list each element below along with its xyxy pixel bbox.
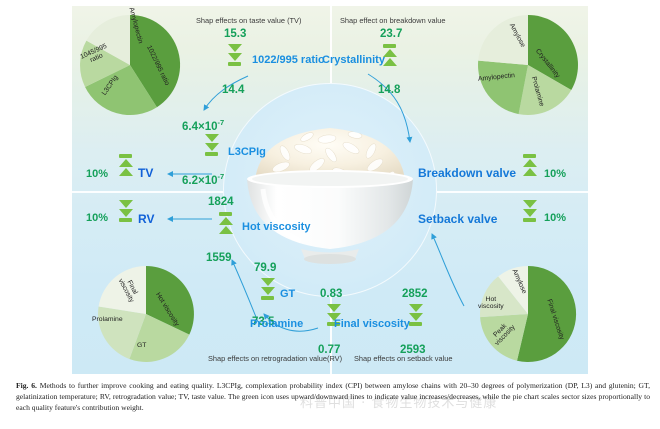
- pie-taste-value: 1022/995 ratio L3CPIg 1045/995ratio Amyl…: [74, 10, 186, 120]
- value-low-l3cpig: 6.2×10-7: [182, 172, 224, 187]
- value-low-ratio-1022-995: 14.4: [222, 84, 244, 96]
- outcome-amount-rv: 10%: [86, 212, 108, 224]
- feature-label-prolamine: Prolamine: [250, 318, 303, 330]
- figure-caption-label: Fig. 6.: [16, 381, 37, 390]
- arrow-up-icon-tv: [118, 154, 133, 176]
- pie-setback-value: Final viscosity Peakviscosity Hotviscosi…: [472, 264, 584, 370]
- arrow-up-icon-hot-viscosity: [218, 212, 233, 234]
- value-low-final-viscosity: 2593: [400, 344, 426, 356]
- value-low-l3cpig-exponent: -7: [218, 172, 225, 181]
- pie-breakdown-value: Crystallinity Prolamine Amylopectin Amyl…: [472, 10, 584, 120]
- outcome-label-breakdown-valve: Breakdown valve: [418, 166, 516, 180]
- value-high-gt: 79.9: [254, 262, 276, 274]
- value-low-crystallinity: 14.8: [378, 84, 400, 96]
- value-high-l3cpig-mantissa: 6.4×10: [182, 121, 218, 133]
- feature-label-final-viscosity: Final viscosity: [334, 318, 410, 330]
- value-high-ratio-1022-995: 15.3: [224, 28, 246, 40]
- figure-panel: 1022/995 ratio L3CPIg 1045/995ratio Amyl…: [72, 6, 588, 374]
- value-high-hot-viscosity: 1824: [208, 196, 234, 208]
- pie-retrogradation-value: Hot viscosity GT Prolamine Finalviscosit…: [90, 264, 202, 370]
- value-low-hot-viscosity: 1559: [206, 252, 232, 264]
- outcome-amount-breakdown-valve: 10%: [544, 168, 566, 180]
- arrow-down-icon-final-viscosity: [408, 304, 423, 326]
- outcome-amount-setback-valve: 10%: [544, 212, 566, 224]
- feature-label-crystallinity: Crystallinity: [322, 54, 385, 66]
- feature-label-ratio-1022-995: 1022/995 ratio: [252, 54, 325, 66]
- bowl-of-cooked-rice-image: [241, 115, 419, 265]
- feature-label-hot-viscosity: Hot viscosity: [242, 221, 310, 233]
- arrow-down-icon-setback-valve: [522, 200, 537, 222]
- value-low-prolamine: 0.77: [318, 344, 340, 356]
- arrow-down-icon-rv: [118, 200, 133, 222]
- value-high-l3cpig: 6.4×10-7: [182, 118, 224, 133]
- outcome-label-tv: TV: [138, 166, 153, 180]
- feature-label-gt: GT: [280, 288, 295, 300]
- value-high-prolamine: 0.83: [320, 288, 342, 300]
- arrow-down-icon-ratio-1022-995: [227, 44, 242, 66]
- feature-label-l3cpig: L3CPIg: [228, 146, 266, 158]
- value-high-l3cpig-exponent: -7: [218, 118, 225, 127]
- value-high-final-viscosity: 2852: [402, 288, 428, 300]
- outcome-label-rv: RV: [138, 212, 154, 226]
- outcome-label-setback-valve: Setback valve: [418, 212, 497, 226]
- arrow-down-icon-gt: [260, 278, 275, 300]
- pie-caption-breakdown-value: Shap effect on breakdown value: [340, 16, 445, 25]
- figure-caption-text: Methods to further improve cooking and e…: [16, 381, 650, 412]
- arrow-up-icon-breakdown-valve: [522, 154, 537, 176]
- figure-caption: Fig. 6. Methods to further improve cooki…: [16, 381, 650, 413]
- outcome-amount-tv: 10%: [86, 168, 108, 180]
- value-low-l3cpig-mantissa: 6.2×10: [182, 175, 218, 187]
- pie-caption-taste-value: Shap effects on taste value (TV): [196, 16, 301, 25]
- value-high-crystallinity: 23.7: [380, 28, 402, 40]
- arrow-down-icon-l3cpig: [204, 134, 219, 156]
